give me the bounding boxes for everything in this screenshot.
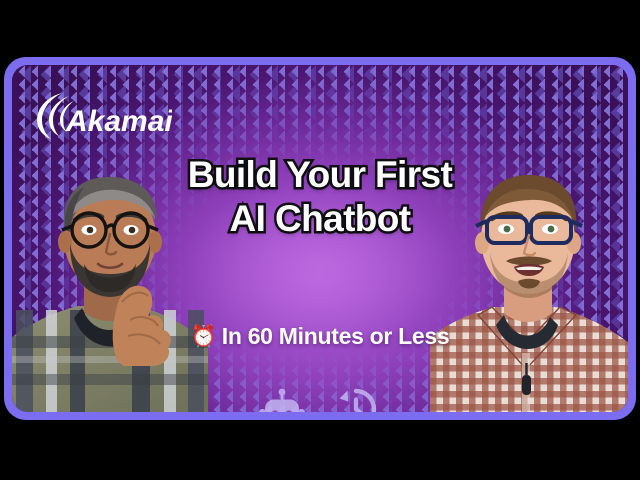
presenter-left xyxy=(12,160,208,412)
thumbnail-canvas: Akamai Build Your First AI Chatbot ⏰ In … xyxy=(12,65,628,412)
alarm-clock-emoji: ⏰ xyxy=(191,326,217,347)
icon-row xyxy=(12,383,628,412)
subtitle: ⏰ In 60 Minutes or Less xyxy=(12,323,628,350)
thumbnail-border-frame: Akamai Build Your First AI Chatbot ⏰ In … xyxy=(4,57,636,420)
subtitle-text: In 60 Minutes or Less xyxy=(222,323,450,350)
video-thumbnail-stage: Akamai Build Your First AI Chatbot ⏰ In … xyxy=(0,0,640,480)
akamai-wordmark: Akamai xyxy=(65,105,172,138)
akamai-logo: Akamai xyxy=(32,89,172,141)
robot-icon xyxy=(259,383,305,412)
presenter-right xyxy=(430,157,628,412)
history-clock-icon xyxy=(331,384,381,412)
